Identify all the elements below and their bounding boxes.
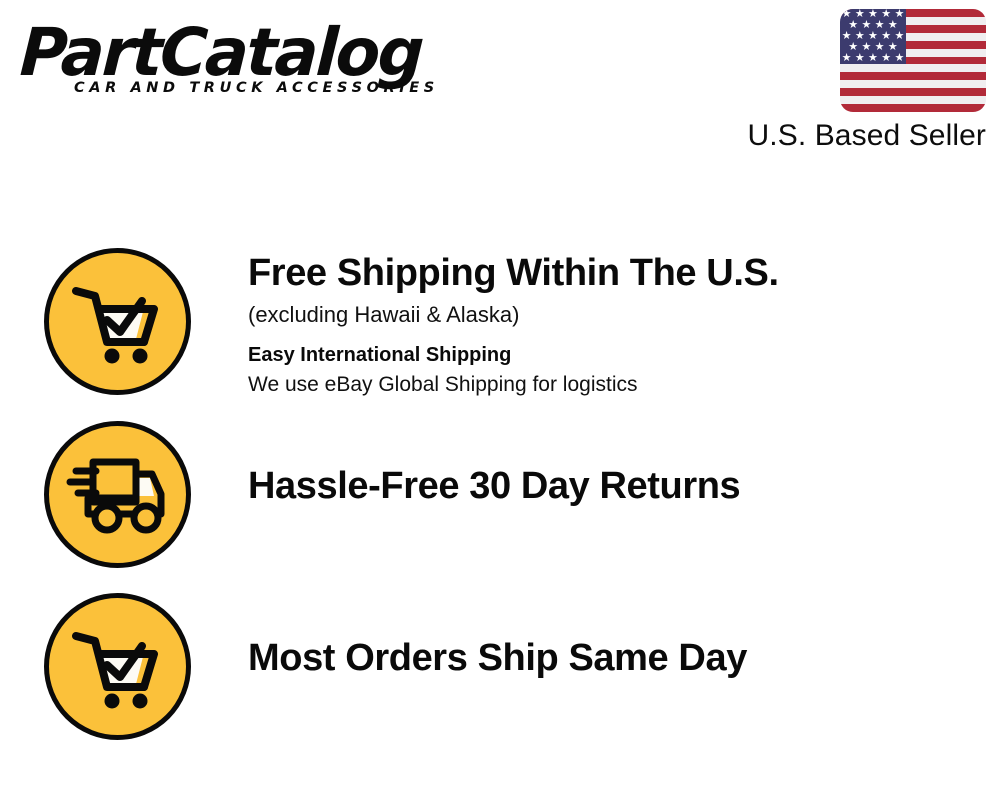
brand-tagline: CAR AND TRUCK ACCESSORIES (22, 80, 492, 96)
brand-logo: PartCatalog CAR AND TRUCK ACCESSORIES (22, 20, 492, 120)
flag-star: ★ (867, 53, 878, 64)
banner-page: PartCatalog CAR AND TRUCK ACCESSORIES ★★… (0, 0, 1000, 800)
flag-star: ★ (854, 9, 865, 20)
flag-star: ★ (848, 20, 859, 31)
flag-stripe (840, 64, 986, 72)
flag-star: ★ (867, 9, 878, 20)
flag-star: ★ (881, 9, 892, 20)
flag-star: ★ (887, 20, 898, 31)
us-based-seller-block: ★★★★★★★★★★★★★★★★★★★★★★★ U.S. Based Selle… (716, 9, 986, 153)
flag-star: ★ (874, 20, 885, 31)
flag-star: ★ (894, 53, 905, 64)
feature-text: Hassle-Free 30 Day Returns (191, 421, 974, 507)
flag-stripe (840, 80, 986, 88)
flag-canton: ★★★★★★★★★★★★★★★★★★★★★★★ (840, 9, 906, 64)
feature-subline: (excluding Hawaii & Alaska) (248, 301, 974, 329)
flag-star: ★ (881, 53, 892, 64)
flag-star: ★ (854, 53, 865, 64)
feature-headline: Most Orders Ship Same Day (248, 639, 974, 679)
feature-headline: Hassle-Free 30 Day Returns (248, 467, 974, 507)
flag-star: ★ (861, 20, 872, 31)
seller-label: U.S. Based Seller (716, 119, 986, 153)
feature-row: Most Orders Ship Same Day (44, 593, 974, 740)
feature-text: Most Orders Ship Same Day (191, 593, 974, 679)
flag-star: ★ (841, 9, 852, 20)
feature-headline: Free Shipping Within The U.S. (248, 254, 974, 294)
flag-star: ★ (894, 9, 905, 20)
feature-text: Free Shipping Within The U.S. (excluding… (191, 248, 974, 398)
feature-subnote: We use eBay Global Shipping for logistic… (248, 371, 974, 398)
brand-wordmark: PartCatalog (19, 20, 483, 86)
flag-stripe (840, 72, 986, 80)
flag-stripe (840, 104, 986, 112)
feature-subhead: Easy International Shipping (248, 343, 974, 367)
shopping-cart-check-icon (44, 248, 191, 395)
feature-row: Hassle-Free 30 Day Returns (44, 421, 974, 568)
feature-row: Free Shipping Within The U.S. (excluding… (44, 248, 974, 398)
flag-stripe (840, 96, 986, 104)
delivery-truck-icon (44, 421, 191, 568)
shopping-cart-check-icon (44, 593, 191, 740)
flag-stripe (840, 88, 986, 96)
flag-star: ★ (841, 53, 852, 64)
us-flag-icon: ★★★★★★★★★★★★★★★★★★★★★★★ (840, 9, 986, 112)
